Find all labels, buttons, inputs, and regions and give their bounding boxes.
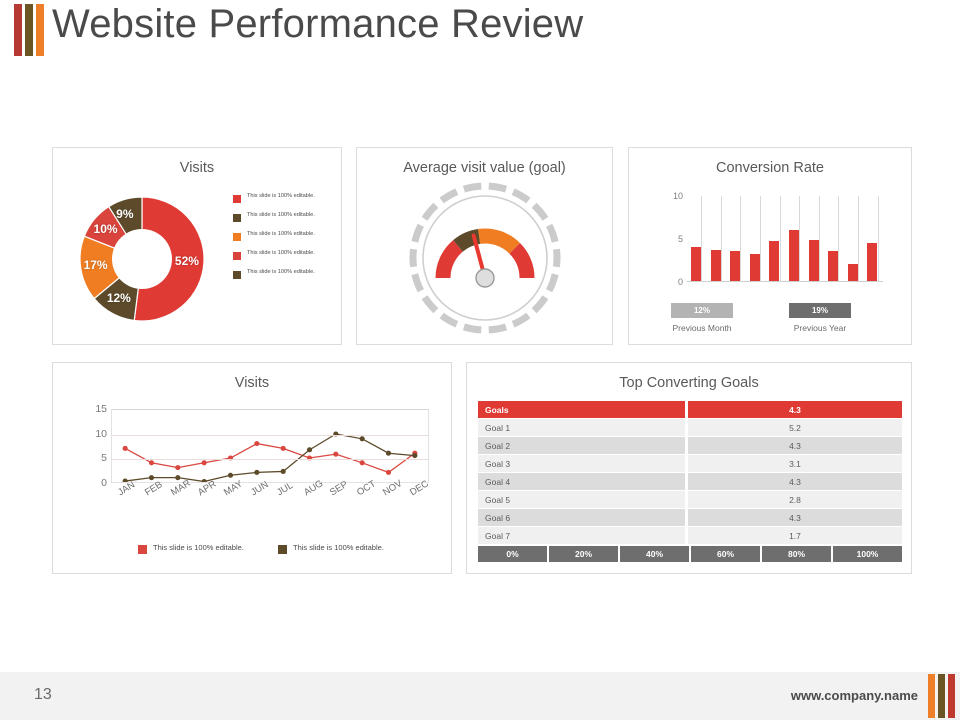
- data-point: [333, 452, 338, 457]
- footer-accent-bar-brown: [938, 674, 945, 718]
- data-point: [386, 451, 391, 456]
- donut-legend: This slide is 100% editable.This slide i…: [233, 192, 339, 287]
- header-accent-bar-orange: [36, 4, 44, 56]
- table-cell-goal: Goal 5: [478, 491, 685, 508]
- panel-conversion-rate: Conversion Rate 1050 12%Previous Month19…: [628, 147, 912, 345]
- gauge-chart-area: [407, 180, 563, 336]
- bar: [769, 241, 779, 281]
- table-row: Goal 15.2: [478, 419, 902, 436]
- table-cell-value: 4.3: [688, 437, 902, 454]
- legend-item: This slide is 100% editable.: [278, 543, 418, 554]
- bar: [809, 240, 819, 281]
- legend-swatch: [233, 214, 241, 222]
- annotation-caption: Previous Month: [656, 323, 748, 333]
- gauge-ring-segment: [424, 297, 435, 310]
- table-cell-goal: Goal 6: [478, 509, 685, 526]
- page-number: 13: [34, 686, 52, 704]
- y-tick-label: 5: [101, 452, 107, 464]
- annotation-caption: Previous Year: [774, 323, 866, 333]
- gauge-ring-segment: [414, 274, 420, 290]
- data-point: [254, 441, 259, 446]
- legend-swatch: [233, 195, 241, 203]
- gauge-ring-segment: [463, 186, 480, 189]
- gauge-ring-segment: [549, 225, 555, 241]
- line-chart-x-labels: JANFEBMARAPRMAYJUNJULAUGSEPOCTNOVDEC: [111, 485, 429, 519]
- table-cell-value: 2.8: [688, 491, 902, 508]
- table-row: Goal 52.8: [478, 491, 902, 508]
- table-cell-value: 4.3: [688, 473, 902, 490]
- header-accent-bar-red: [14, 4, 22, 56]
- scale-tick: 60%: [691, 546, 760, 562]
- y-tick-label: 0: [678, 277, 683, 287]
- donut-slice-label: 12%: [107, 291, 131, 305]
- legend-label: This slide is 100% editable.: [153, 543, 248, 553]
- header-accent-bar-brown: [25, 4, 33, 56]
- bar: [867, 243, 877, 281]
- bar: [691, 247, 701, 281]
- grid-line: [740, 196, 741, 282]
- gauge-ring-segment: [534, 205, 545, 218]
- table-cell-goal: Goal 2: [478, 437, 685, 454]
- y-tick-label: 5: [678, 234, 683, 244]
- legend-label: This slide is 100% editable.: [247, 230, 315, 239]
- legend-swatch: [233, 252, 241, 260]
- bar: [730, 251, 740, 281]
- scale-tick: 100%: [833, 546, 902, 562]
- legend-label: This slide is 100% editable.: [247, 268, 315, 277]
- footer-accent-bar-orange: [928, 674, 935, 718]
- table-cell-value: 4.3: [688, 401, 902, 418]
- status-badge: 19%: [789, 303, 851, 318]
- line-chart-y-axis: 151050: [81, 409, 107, 483]
- data-point: [281, 469, 286, 474]
- goals-table: Goals4.3Goal 15.2Goal 24.3Goal 33.1Goal …: [478, 401, 902, 562]
- table-cell-value: 3.1: [688, 455, 902, 472]
- bar: [848, 264, 858, 281]
- table-cell-goal: Goals: [478, 401, 685, 418]
- legend-label: This slide is 100% editable.: [247, 211, 315, 220]
- data-point: [254, 470, 259, 475]
- panel-title-gauge: Average visit value (goal): [357, 160, 612, 176]
- grid-line: [112, 435, 428, 436]
- conversion-bar-chart: 1050: [659, 196, 899, 296]
- bar: [789, 230, 799, 281]
- y-tick-label: 15: [95, 403, 107, 415]
- header-accent-bars: [14, 4, 48, 56]
- gauge-ring-segment: [413, 249, 414, 267]
- footer-accent-bar-red: [948, 674, 955, 718]
- data-point: [149, 475, 154, 480]
- scale-tick: 20%: [549, 546, 618, 562]
- grid-line: [701, 196, 702, 282]
- conversion-y-axis: 1050: [659, 196, 683, 282]
- grid-line: [799, 196, 800, 282]
- bar: [828, 251, 838, 281]
- grid-line: [819, 196, 820, 282]
- data-point: [175, 475, 180, 480]
- panel-top-converting-goals: Top Converting Goals Goals4.3Goal 15.2Go…: [466, 362, 912, 574]
- page-title: Website Performance Review: [52, 2, 583, 47]
- scale-tick: 40%: [620, 546, 689, 562]
- slide-footer: 13 www.company.name: [0, 672, 960, 720]
- slide-header: Website Performance Review: [0, 0, 960, 66]
- legend-item: This slide is 100% editable.: [233, 211, 339, 230]
- scale-tick: 80%: [762, 546, 831, 562]
- gauge-arc-segment: [514, 248, 526, 278]
- y-tick-label: 10: [95, 428, 107, 440]
- table-cell-goal: Goal 7: [478, 527, 685, 544]
- gauge-ring-segment: [556, 249, 557, 267]
- table-row: Goal 33.1: [478, 455, 902, 472]
- grid-line: [721, 196, 722, 282]
- table-cell-goal: Goal 3: [478, 455, 685, 472]
- data-point: [281, 446, 286, 451]
- line-series: [125, 434, 415, 482]
- donut-slice-label: 10%: [94, 222, 118, 236]
- legend-item: This slide is 100% editable.: [138, 543, 278, 554]
- legend-item: This slide is 100% editable.: [233, 249, 339, 268]
- footer-accent-bars: [928, 674, 958, 718]
- panel-title-visits-donut: Visits: [53, 160, 341, 176]
- panel-visits-donut: Visits 52%12%17%10%9% This slide is 100%…: [52, 147, 342, 345]
- gauge-ring-segment: [549, 274, 555, 290]
- table-cell-value: 1.7: [688, 527, 902, 544]
- gauge-ring-segment: [534, 297, 545, 310]
- gauge-ring-segment: [513, 192, 528, 201]
- table-row: Goal 44.3: [478, 473, 902, 490]
- conversion-plot-area: [687, 196, 883, 282]
- legend-swatch: [233, 271, 241, 279]
- gauge-hub: [476, 269, 494, 287]
- panel-visits-line: Visits 151050 JANFEBMARAPRMAYJUNJULAUGSE…: [52, 362, 452, 574]
- data-point: [149, 460, 154, 465]
- table-scale-footer: 0%20%40%60%80%100%: [478, 546, 902, 562]
- bar: [711, 250, 721, 281]
- table-row: Goal 24.3: [478, 437, 902, 454]
- table-cell-goal: Goal 4: [478, 473, 685, 490]
- visits-line-chart: 151050 JANFEBMARAPRMAYJUNJULAUGSEPOCTNOV…: [81, 409, 433, 519]
- gauge-ring-segment: [463, 327, 480, 330]
- data-point: [412, 453, 417, 458]
- grid-line: [112, 459, 428, 460]
- gauge-ring-segment: [488, 327, 505, 330]
- data-point: [360, 436, 365, 441]
- grid-line: [780, 196, 781, 282]
- data-point: [202, 460, 207, 465]
- gauge-ring-segment: [513, 316, 528, 325]
- table-row: Goal 64.3: [478, 509, 902, 526]
- gauge-ring-segment: [488, 186, 505, 189]
- table-cell-value: 5.2: [688, 419, 902, 436]
- gauge-arc-segment: [443, 246, 458, 278]
- grid-line: [760, 196, 761, 282]
- data-point: [123, 446, 128, 451]
- grid-line: [878, 196, 879, 282]
- legend-swatch: [233, 233, 241, 241]
- slide: Website Performance Review Visits 52%12%…: [0, 0, 960, 720]
- data-point: [228, 473, 233, 478]
- scale-tick: 0%: [478, 546, 547, 562]
- company-url: www.company.name: [791, 688, 918, 703]
- bar: [750, 254, 760, 281]
- legend-item: This slide is 100% editable.: [233, 268, 339, 287]
- table-header-row: Goals4.3: [478, 401, 902, 418]
- panel-title-conversion: Conversion Rate: [629, 160, 911, 176]
- legend-item: This slide is 100% editable.: [233, 192, 339, 211]
- conversion-baseline: [687, 281, 883, 282]
- gauge-arc-segment: [479, 236, 515, 248]
- data-point: [307, 447, 312, 452]
- y-tick-label: 0: [101, 477, 107, 489]
- conversion-annotations: 12%Previous Month19%Previous Year: [659, 303, 909, 337]
- table-row: Goal 71.7: [478, 527, 902, 544]
- data-point: [360, 460, 365, 465]
- line-chart-legend: This slide is 100% editable.This slide i…: [138, 543, 428, 554]
- status-badge: 12%: [671, 303, 733, 318]
- donut-slice-label: 17%: [84, 258, 108, 272]
- donut-slice-label: 9%: [116, 207, 133, 221]
- gauge-chart: [407, 180, 563, 336]
- panel-title-visits-line: Visits: [53, 375, 451, 391]
- data-point: [175, 465, 180, 470]
- gauge-ring-segment: [414, 225, 420, 241]
- line-chart-plot-area: [111, 409, 429, 483]
- table-cell-value: 4.3: [688, 509, 902, 526]
- grid-line: [838, 196, 839, 282]
- donut-chart-area: 52%12%17%10%9%: [67, 184, 217, 334]
- legend-item: This slide is 100% editable.: [233, 230, 339, 249]
- table-cell-goal: Goal 1: [478, 419, 685, 436]
- legend-swatch: [278, 545, 287, 554]
- gauge-ring-segment: [441, 192, 456, 201]
- gauge-ring-segment: [424, 205, 435, 218]
- gauge-ring-segment: [441, 316, 456, 325]
- legend-label: This slide is 100% editable.: [247, 192, 315, 201]
- y-tick-label: 10: [673, 191, 683, 201]
- data-point: [386, 470, 391, 475]
- line-series: [125, 444, 415, 473]
- panel-average-visit-value: Average visit value (goal): [356, 147, 613, 345]
- grid-line: [858, 196, 859, 282]
- gauge-outer-ring: [413, 186, 557, 330]
- legend-label: This slide is 100% editable.: [293, 543, 388, 553]
- legend-label: This slide is 100% editable.: [247, 249, 315, 258]
- legend-swatch: [138, 545, 147, 554]
- panel-title-goals: Top Converting Goals: [467, 375, 911, 391]
- donut-slice-label: 52%: [175, 254, 199, 268]
